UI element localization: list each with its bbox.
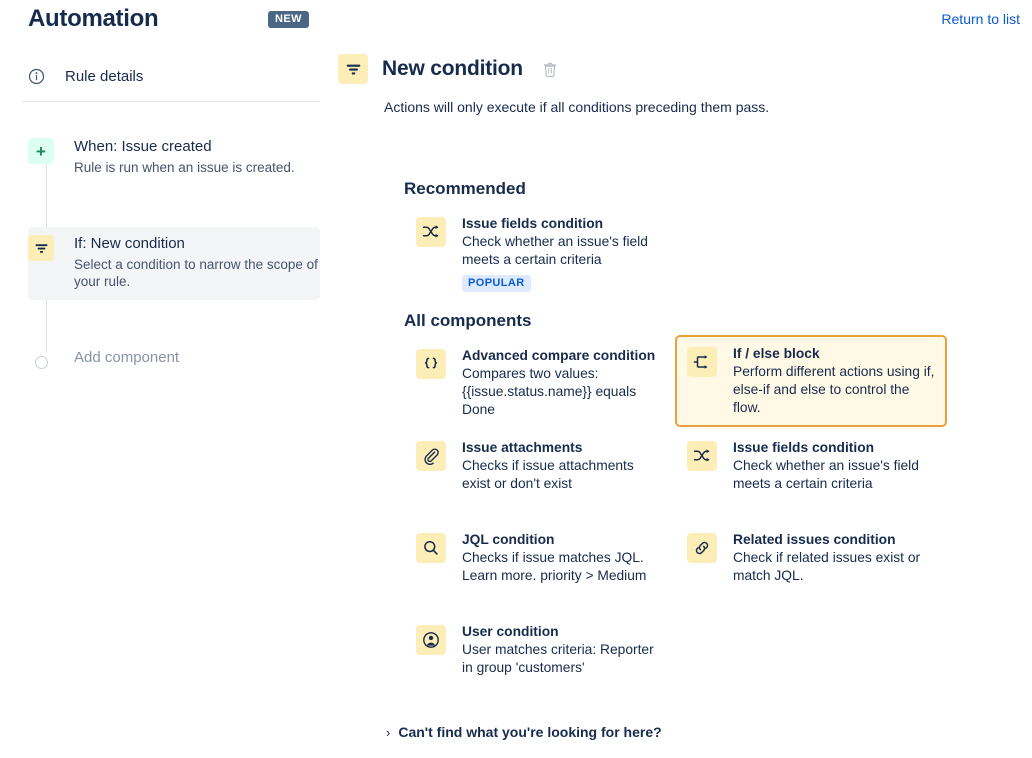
recommended-heading: Recommended	[404, 179, 526, 199]
component-card-issue-fields-condition[interactable]: Issue fields condition Check whether an …	[675, 429, 947, 503]
component-card-advanced-compare-condition[interactable]: Advanced compare condition Compares two …	[404, 337, 676, 429]
condition-picker-panel: New condition Actions will only execute …	[330, 44, 1032, 758]
tree-node-text: When: Issue created Rule is run when an …	[74, 138, 320, 176]
card-desc: Check if related issues exist or match J…	[733, 549, 935, 585]
card-desc: Check whether an issue's field meets a c…	[462, 233, 664, 269]
component-card-issue-fields-condition-recommended[interactable]: Issue fields condition Check whether an …	[404, 205, 676, 302]
cant-find-expander-label: Can't find what you're looking for here?	[398, 724, 661, 740]
component-card-user-condition[interactable]: User condition User matches criteria: Re…	[404, 613, 676, 687]
branch-icon	[687, 347, 717, 377]
chevron-right-icon: ›	[386, 726, 390, 739]
tree-node-if-new-condition[interactable]: If: New condition Select a condition to …	[28, 227, 320, 300]
plus-icon: +	[28, 138, 54, 164]
component-card-jql-condition[interactable]: JQL condition Checks if issue matches JQ…	[404, 521, 676, 595]
tree-node-text: If: New condition Select a condition to …	[74, 235, 320, 290]
card-title: Issue fields condition	[462, 215, 664, 232]
component-card-related-issues-condition[interactable]: Related issues condition Check if relate…	[675, 521, 947, 595]
rule-tree: + When: Issue created Rule is run when a…	[0, 44, 330, 758]
card-title: JQL condition	[462, 531, 664, 548]
page-title: Automation	[28, 5, 158, 33]
card-desc: Checks if issue matches JQL. Learn more.…	[462, 549, 664, 585]
tree-node-title: If: New condition	[74, 235, 320, 253]
return-to-list-link[interactable]: Return to list	[941, 11, 1020, 27]
delete-icon[interactable]	[541, 60, 559, 78]
tree-node-when-issue-created[interactable]: + When: Issue created Rule is run when a…	[28, 130, 320, 186]
card-desc: User matches criteria: Reporter in group…	[462, 641, 664, 677]
circle-outline-icon	[28, 349, 54, 375]
card-body: Related issues condition Check if relate…	[733, 531, 935, 585]
search-icon	[416, 533, 446, 563]
tree-node-desc: Select a condition to narrow the scope o…	[74, 256, 320, 290]
card-desc: Compares two values: {{issue.status.name…	[462, 365, 664, 419]
rule-sidebar: Rule details + When: Issue created Rule …	[0, 44, 330, 758]
panel-header: New condition	[338, 54, 559, 84]
tree-node-title: When: Issue created	[74, 138, 320, 156]
popular-badge: POPULAR	[462, 275, 531, 292]
shuffle-icon	[416, 217, 446, 247]
user-icon	[416, 625, 446, 655]
card-title: Related issues condition	[733, 531, 935, 548]
automation-page: Automation NEW Return to list Rule detai…	[0, 0, 1032, 758]
cant-find-expander[interactable]: › Can't find what you're looking for her…	[386, 724, 662, 740]
panel-subtitle: Actions will only execute if all conditi…	[384, 99, 769, 115]
card-body: User condition User matches criteria: Re…	[462, 623, 664, 677]
component-card-if-else-block[interactable]: If / else block Perform different action…	[675, 335, 947, 427]
card-body: JQL condition Checks if issue matches JQ…	[462, 531, 664, 585]
panel-title: New condition	[382, 57, 523, 81]
card-title: If / else block	[733, 345, 935, 362]
tree-node-text: Add component	[74, 349, 320, 375]
card-title: Issue attachments	[462, 439, 664, 456]
tree-node-add-component[interactable]: Add component	[28, 341, 320, 385]
filter-icon	[28, 235, 54, 261]
link-icon	[687, 533, 717, 563]
top-bar: Automation NEW Return to list	[0, 0, 1032, 44]
new-badge: NEW	[268, 11, 309, 28]
card-title: User condition	[462, 623, 664, 640]
tree-node-desc: Rule is run when an issue is created.	[74, 159, 320, 176]
component-card-issue-attachments[interactable]: Issue attachments Checks if issue attach…	[404, 429, 676, 503]
paperclip-icon	[416, 441, 446, 471]
card-desc: Check whether an issue's field meets a c…	[733, 457, 935, 493]
card-body: If / else block Perform different action…	[733, 345, 935, 417]
braces-icon	[416, 349, 446, 379]
card-desc: Perform different actions using if, else…	[733, 363, 935, 417]
card-body: Issue fields condition Check whether an …	[733, 439, 935, 493]
card-title: Issue fields condition	[733, 439, 935, 456]
card-body: Issue attachments Checks if issue attach…	[462, 439, 664, 493]
filter-icon	[338, 54, 368, 84]
shuffle-icon	[687, 441, 717, 471]
all-components-heading: All components	[404, 311, 532, 331]
card-desc: Checks if issue attachments exist or don…	[462, 457, 664, 493]
card-title: Advanced compare condition	[462, 347, 664, 364]
card-body: Advanced compare condition Compares two …	[462, 347, 664, 419]
card-body: Issue fields condition Check whether an …	[462, 215, 664, 292]
tree-node-title: Add component	[74, 349, 320, 367]
